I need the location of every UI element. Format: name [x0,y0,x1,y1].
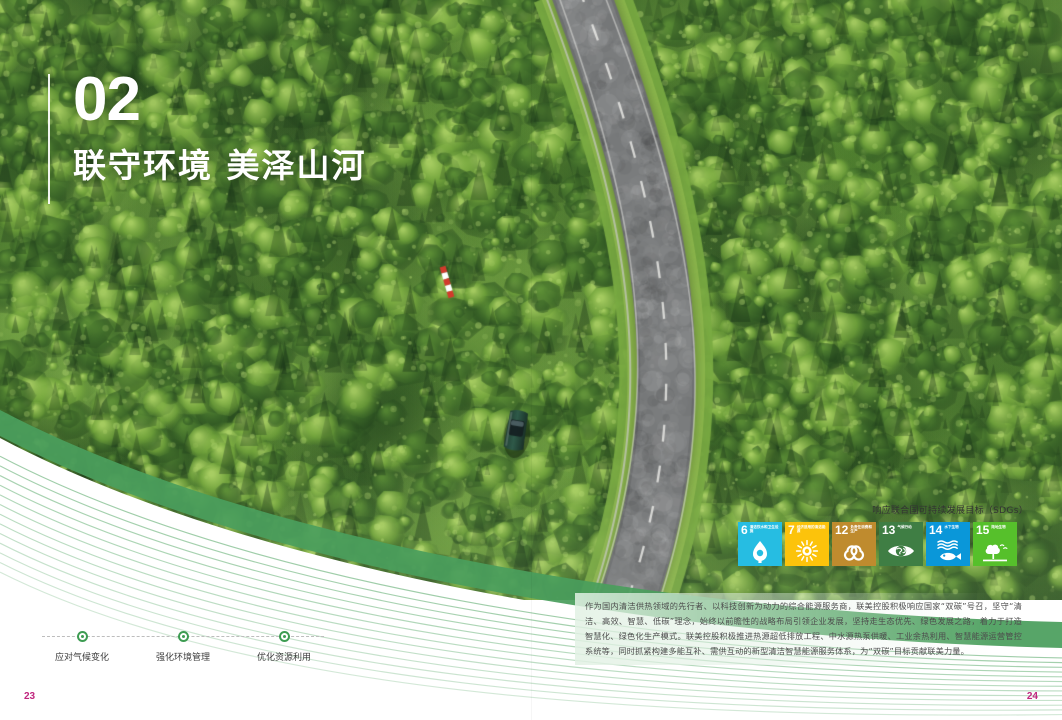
spread-page: 02 联守环境 美泽山河 响应联合国可持续发展目标（SDGs） 6清洁饮水和卫生… [0,0,1062,720]
chapter-title: 联守环境 美泽山河 [73,139,468,187]
environment-timeline: 应对气候变化强化环境管理优化资源利用 [42,626,324,672]
sdg-label: 清洁饮水和卫生设施 [750,524,780,534]
sdg-number: 13 [882,524,895,536]
sdg-number: 6 [741,524,748,536]
sdg-tile-6[interactable]: 6清洁饮水和卫生设施 [738,522,782,566]
sdg-artwork [973,538,1017,564]
infinity-icon [838,538,870,564]
sdg-caption: 响应联合国可持续发展目标（SDGs） [738,503,1028,516]
sdg-artwork [738,538,782,564]
timeline-label-1: 应对气候变化 [55,650,109,663]
sdg-artwork [926,538,970,564]
sdg-number: 14 [929,524,942,536]
sdg-number: 12 [835,524,848,536]
sdg-artwork [879,538,923,564]
timeline-node-3[interactable] [279,631,290,642]
timeline-label-3: 优化资源利用 [257,650,311,663]
page-number-left: 23 [24,691,35,702]
sdg-tile-14[interactable]: 14水下生物 [926,522,970,566]
sdg-tile-header: 13气候行动 [882,524,921,536]
sdg-tile-header: 12负责任消费和生产 [835,524,874,536]
sdg-tile-12[interactable]: 12负责任消费和生产 [832,522,876,566]
sdg-tile-13[interactable]: 13气候行动 [879,522,923,566]
sdg-number: 7 [788,524,795,536]
chapter-heading: 02 联守环境 美泽山河 [48,68,468,187]
fish-icon [932,538,964,564]
sdg-tile-header: 7经济适用的清洁能源 [788,524,827,536]
sdg-label: 气候行动 [897,524,911,529]
sdg-tile-header: 6清洁饮水和卫生设施 [741,524,780,536]
sdg-artwork [832,538,876,564]
tree-birds-icon [979,538,1011,564]
sdg-block: 响应联合国可持续发展目标（SDGs） 6清洁饮水和卫生设施7经济适用的清洁能源1… [738,503,1028,566]
chapter-vertical-rule [48,74,50,204]
sdg-icon-row: 6清洁饮水和卫生设施7经济适用的清洁能源12负责任消费和生产13气候行动14水下… [738,522,1028,566]
eye-earth-icon [885,538,917,564]
sdg-label: 负责任消费和生产 [850,524,874,534]
sun-icon [791,538,823,564]
body-text-panel: 作为国内清洁供热领域的先行者、以科技创新为动力的综合能源服务商，联美控股积极响应… [575,593,1030,665]
page-number-right: 24 [1027,691,1038,702]
sdg-tile-15[interactable]: 15陆地生物 [973,522,1017,566]
body-paragraph: 作为国内清洁供热领域的先行者、以科技创新为动力的综合能源服务商，联美控股积极响应… [585,599,1022,659]
sdg-label: 水下生物 [944,524,958,529]
timeline-node-2[interactable] [178,631,189,642]
sdg-label: 经济适用的清洁能源 [797,524,827,534]
sdg-artwork [785,538,829,564]
water-drop-icon [744,538,776,564]
sdg-number: 15 [976,524,989,536]
sdg-label: 陆地生物 [991,524,1005,529]
timeline-node-1[interactable] [77,631,88,642]
sdg-tile-header: 14水下生物 [929,524,968,536]
sdg-tile-header: 15陆地生物 [976,524,1015,536]
sdg-tile-7[interactable]: 7经济适用的清洁能源 [785,522,829,566]
chapter-number: 02 [73,68,468,131]
timeline-label-2: 强化环境管理 [156,650,210,663]
page-spine [531,0,532,720]
